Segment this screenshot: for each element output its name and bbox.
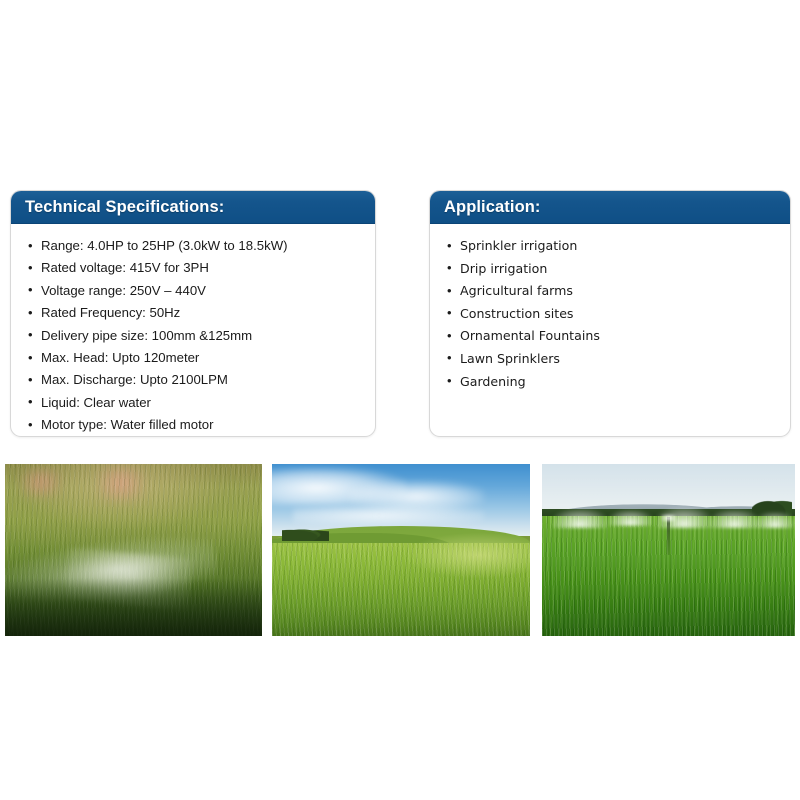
list-item: Rated Frequency: 50Hz	[25, 302, 363, 324]
crop-sprinkler-riser	[667, 517, 670, 555]
photo-lawn-sprinkler-closeup-image	[5, 464, 262, 636]
technical-specifications-body: Range: 4.0HP to 25HP (3.0kW to 18.5kW) R…	[11, 224, 375, 437]
list-item: Lawn Sprinklers	[444, 348, 778, 371]
lawn-foreground-shadow	[5, 578, 262, 636]
application-title: Application:	[430, 198, 541, 217]
crop-sprinkler-spray-1	[552, 509, 608, 528]
crop-sprinkler-spray-5	[755, 512, 795, 527]
list-item: Sprinkler irrigation	[444, 235, 778, 258]
list-item: Agricultural farms	[444, 280, 778, 303]
photo-crop-field-sprinklers	[542, 464, 795, 636]
list-item: Range: 4.0HP to 25HP (3.0kW to 18.5kW)	[25, 235, 363, 257]
list-item: Voltage range: 250V – 440V	[25, 280, 363, 302]
technical-specifications-list: Range: 4.0HP to 25HP (3.0kW to 18.5kW) R…	[25, 235, 363, 437]
crop-sprinkler-spray-2	[608, 510, 654, 525]
field-cloud-low	[293, 505, 484, 526]
spec-cards-row: Technical Specifications: Range: 4.0HP t…	[0, 190, 800, 440]
technical-specifications-card: Technical Specifications: Range: 4.0HP t…	[10, 190, 376, 437]
application-header: Application:	[430, 191, 790, 224]
product-spec-sheet: Technical Specifications: Range: 4.0HP t…	[0, 0, 800, 800]
field-sun-glow	[406, 533, 530, 578]
list-item: Delivery pipe size: 100mm &125mm	[25, 325, 363, 347]
list-item: Ornamental Fountains	[444, 325, 778, 348]
list-item: Max. Discharge: Upto 2100LPM	[25, 369, 363, 391]
list-item: Gardening	[444, 371, 778, 394]
photo-strip	[0, 464, 800, 636]
list-item: Construction sites	[444, 303, 778, 326]
crop-sprinkler-spray-4	[709, 510, 760, 527]
list-item: Liquid: Clear water	[25, 392, 363, 414]
list-item: Drip irrigation	[444, 258, 778, 281]
technical-specifications-header: Technical Specifications:	[11, 191, 375, 224]
application-list: Sprinkler irrigation Drip irrigation Agr…	[444, 235, 778, 393]
photo-crop-field-sprinklers-image	[542, 464, 795, 636]
application-card: Application: Sprinkler irrigation Drip i…	[429, 190, 791, 437]
technical-specifications-title: Technical Specifications:	[11, 198, 224, 217]
application-body: Sprinkler irrigation Drip irrigation Agr…	[430, 224, 790, 436]
field-treeline	[282, 527, 328, 541]
list-item: Rated voltage: 415V for 3PH	[25, 257, 363, 279]
photo-lawn-sprinkler-closeup	[5, 464, 262, 636]
photo-green-field-blue-sky-image	[272, 464, 530, 636]
photo-green-field-blue-sky	[272, 464, 530, 636]
crop-sprinkler-head	[661, 514, 676, 523]
list-item: Motor type: Water filled motor	[25, 414, 363, 436]
list-item: Max. Head: Upto 120meter	[25, 347, 363, 369]
